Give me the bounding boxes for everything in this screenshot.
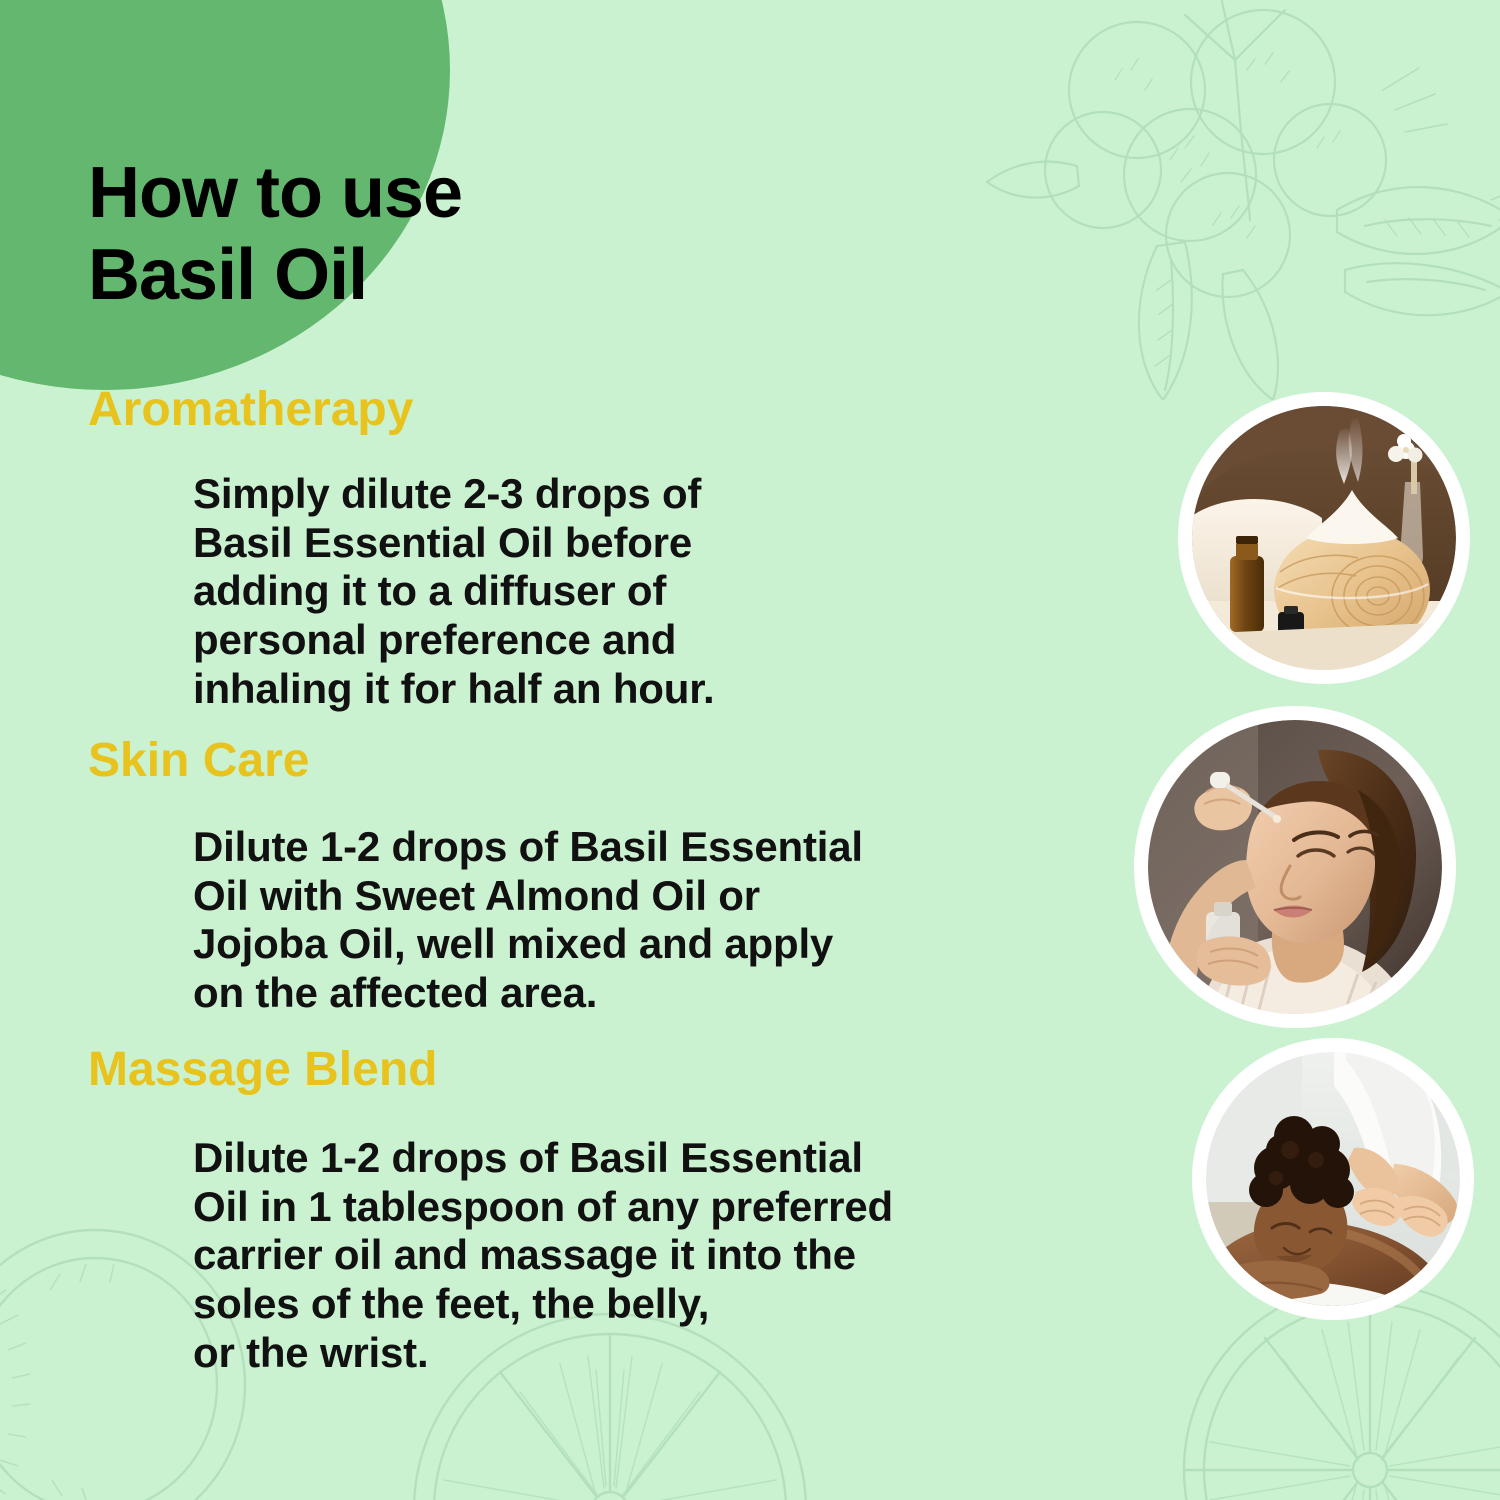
infographic-poster: How to use Basil Oil Aromatherapy Simply… bbox=[0, 0, 1500, 1500]
photo-skin-care-image bbox=[1148, 720, 1442, 1014]
photo-massage-image bbox=[1206, 1052, 1460, 1306]
section-heading: Skin Care bbox=[88, 737, 309, 785]
photo-skin-care bbox=[1134, 706, 1456, 1028]
section-body: Dilute 1-2 drops of Basil Essential Oil … bbox=[193, 823, 1053, 1018]
section-body: Dilute 1-2 drops of Basil Essential Oil … bbox=[193, 1134, 1093, 1378]
section-heading: Massage Blend bbox=[88, 1046, 437, 1094]
page-title: How to use Basil Oil bbox=[88, 152, 708, 316]
photo-aroma-diffuser-image bbox=[1192, 406, 1456, 670]
photo-aroma-diffuser bbox=[1178, 392, 1470, 684]
photo-massage bbox=[1192, 1038, 1474, 1320]
botanical-engraving-icon bbox=[985, 0, 1500, 400]
section-body: Simply dilute 2-3 drops of Basil Essenti… bbox=[193, 470, 893, 714]
section-heading: Aromatherapy bbox=[88, 386, 413, 434]
